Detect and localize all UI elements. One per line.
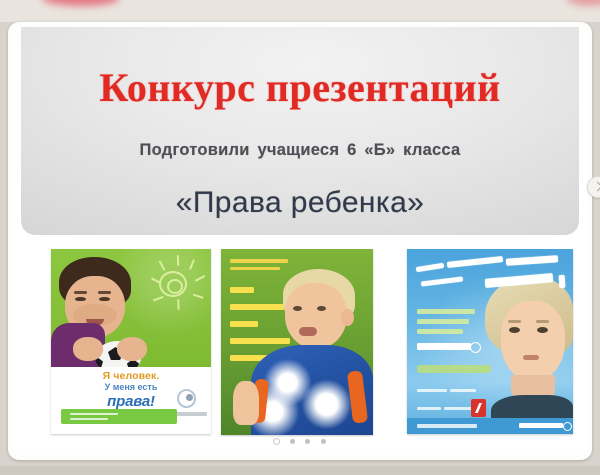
sun-ray xyxy=(192,294,203,300)
red-smudge-right xyxy=(566,0,600,6)
poster2-title-line2 xyxy=(230,304,284,310)
carousel-dot-4[interactable] xyxy=(321,439,326,444)
poster3-badge-icon xyxy=(471,399,486,417)
carousel-dot-3[interactable] xyxy=(305,439,310,444)
poster3-footer xyxy=(407,418,573,434)
chevron-right-icon xyxy=(593,182,600,192)
toddler-eye xyxy=(293,306,302,311)
slide-heading: «Права ребенка» xyxy=(13,186,587,220)
sun-ray xyxy=(176,299,179,310)
poster2-author-line2 xyxy=(230,267,280,271)
poster-row: Я человек. У меня есть права! xyxy=(13,249,587,437)
girl-brow xyxy=(508,320,521,323)
girl-brow xyxy=(536,320,549,323)
slide-viewer-inner: Конкурс презентаций Подготовили учащиеся… xyxy=(13,27,587,455)
boy-eye xyxy=(99,297,110,301)
slide-subtitle: Подготовили учащиеся 6 «Б» класса xyxy=(13,141,587,160)
page-top-bleed xyxy=(0,0,600,22)
toddler-shirt xyxy=(251,345,373,435)
carousel-dots xyxy=(13,439,587,444)
carousel-dot-1[interactable] xyxy=(274,439,279,444)
poster1-footer-bar xyxy=(61,409,177,424)
sun-ray xyxy=(152,295,163,301)
poster3-subhead xyxy=(417,309,479,339)
sun-ray xyxy=(189,259,195,270)
poster-ya-chelovek[interactable]: Я человек. У меня есть права! xyxy=(51,249,211,434)
red-smudge-left xyxy=(42,0,120,6)
poster1-photo xyxy=(51,249,211,367)
boy-hand xyxy=(73,337,103,361)
toddler-mouth xyxy=(299,327,317,336)
poster-unicef[interactable] xyxy=(407,249,573,434)
toddler-eye xyxy=(317,306,326,311)
toddler-ear xyxy=(341,309,354,326)
toddler-arm xyxy=(233,381,259,425)
page-bottom-edge xyxy=(0,466,600,475)
poster2-author-line1 xyxy=(230,259,288,263)
slide-title: Конкурс презентаций xyxy=(13,64,587,111)
boy-brow xyxy=(74,291,87,294)
girl-eye xyxy=(509,327,520,333)
girl-eye xyxy=(537,327,548,333)
slide-viewer: Конкурс презентаций Подготовили учащиеся… xyxy=(8,22,592,460)
carousel-dot-2[interactable] xyxy=(290,439,295,444)
poster2-authors xyxy=(230,259,300,274)
boy-hand xyxy=(117,337,147,361)
girl-mouth xyxy=(523,355,539,360)
poster2-title-line1 xyxy=(230,287,254,293)
poster-book-cover[interactable] xyxy=(221,249,373,435)
poster2-title-line4 xyxy=(230,338,290,344)
girl-face xyxy=(501,301,565,381)
boy-eye xyxy=(75,297,86,301)
toddler-face xyxy=(285,283,347,349)
sun-ray xyxy=(176,255,179,266)
poster1-logo-icon xyxy=(175,389,199,411)
poster3-footer-right xyxy=(519,423,563,428)
boy-brow xyxy=(98,291,111,294)
poster1-caption-line1: Я человек. xyxy=(51,370,211,382)
sun-ray xyxy=(158,260,165,271)
poster3-green-bar xyxy=(417,365,491,373)
poster3-unicef-logo xyxy=(417,343,471,350)
poster3-footer-left xyxy=(417,424,477,428)
sun-icon xyxy=(159,271,187,297)
sun-ray xyxy=(194,275,205,282)
presentation-slide[interactable]: Конкурс презентаций Подготовили учащиеся… xyxy=(13,27,587,437)
poster2-title-line3 xyxy=(230,321,258,327)
